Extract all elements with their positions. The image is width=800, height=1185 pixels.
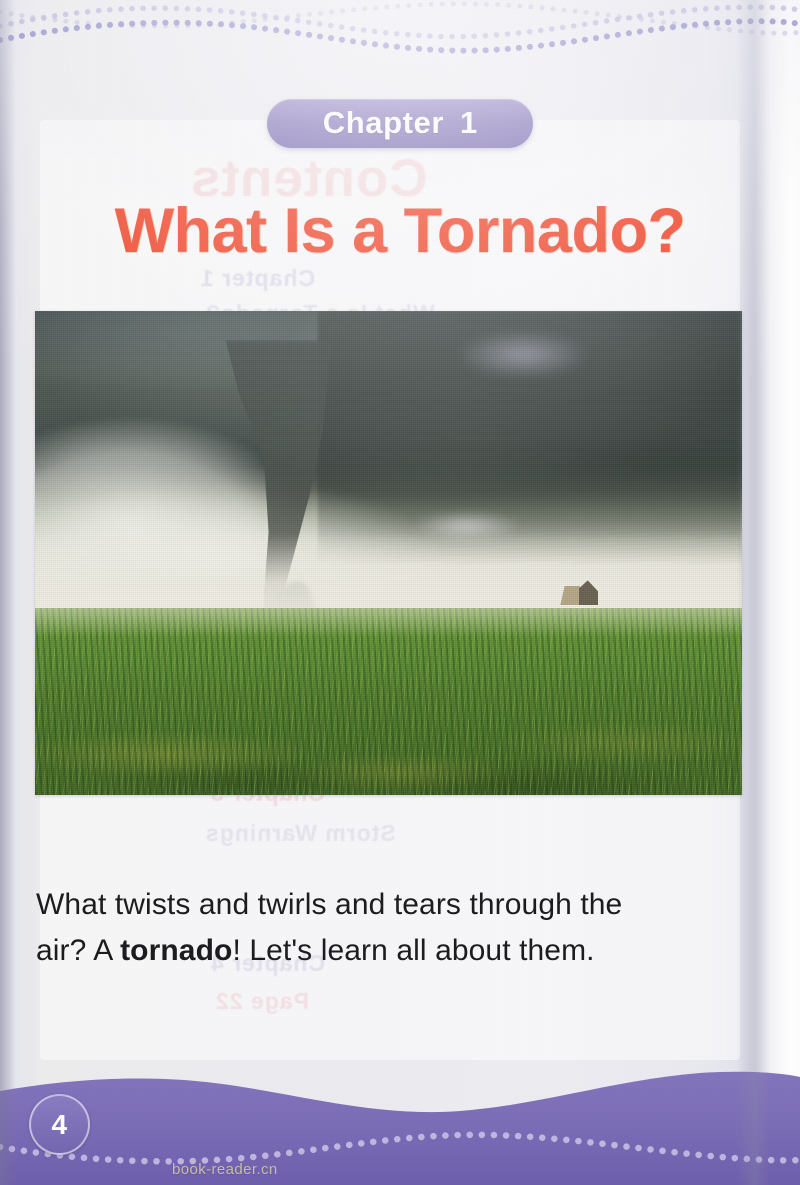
cloud-highlight-icon xyxy=(431,321,615,389)
chapter-badge-label: Chapter xyxy=(323,107,444,138)
show-through-line-8: Storm Warnings xyxy=(205,820,396,847)
book-page: Contents Chapter 1 What Is a Tornado? Pa… xyxy=(0,0,800,1185)
body-keyword-tornado: tornado xyxy=(120,934,232,967)
top-dotted-wave-border xyxy=(0,0,800,62)
body-line-1: What twists and twirls and tears through… xyxy=(36,888,622,921)
barn-roof-right xyxy=(579,580,599,605)
chapter-badge: Chapter 1 xyxy=(267,99,533,148)
barn-roof-left xyxy=(560,586,580,606)
show-through-line-1: Chapter 1 xyxy=(200,265,315,292)
field-horizon-haze xyxy=(35,608,742,637)
left-page-edge-shadow xyxy=(0,0,16,1185)
show-through-line-10: Page 22 xyxy=(215,988,309,1015)
page-title: What Is a Tornado? xyxy=(0,200,800,263)
body-line-2-after: ! Let's learn all about them. xyxy=(232,934,594,967)
page-number-badge: 4 xyxy=(29,1094,90,1155)
footer-wave-band xyxy=(0,1055,800,1185)
farm-barn-icon xyxy=(560,578,598,605)
body-line-2-before: air? A xyxy=(36,934,120,967)
tornado-photo xyxy=(35,311,742,795)
site-watermark: book-reader.cn xyxy=(172,1161,278,1178)
body-paragraph: What twists and twirls and tears through… xyxy=(36,882,756,973)
chapter-badge-number: 1 xyxy=(460,107,477,138)
